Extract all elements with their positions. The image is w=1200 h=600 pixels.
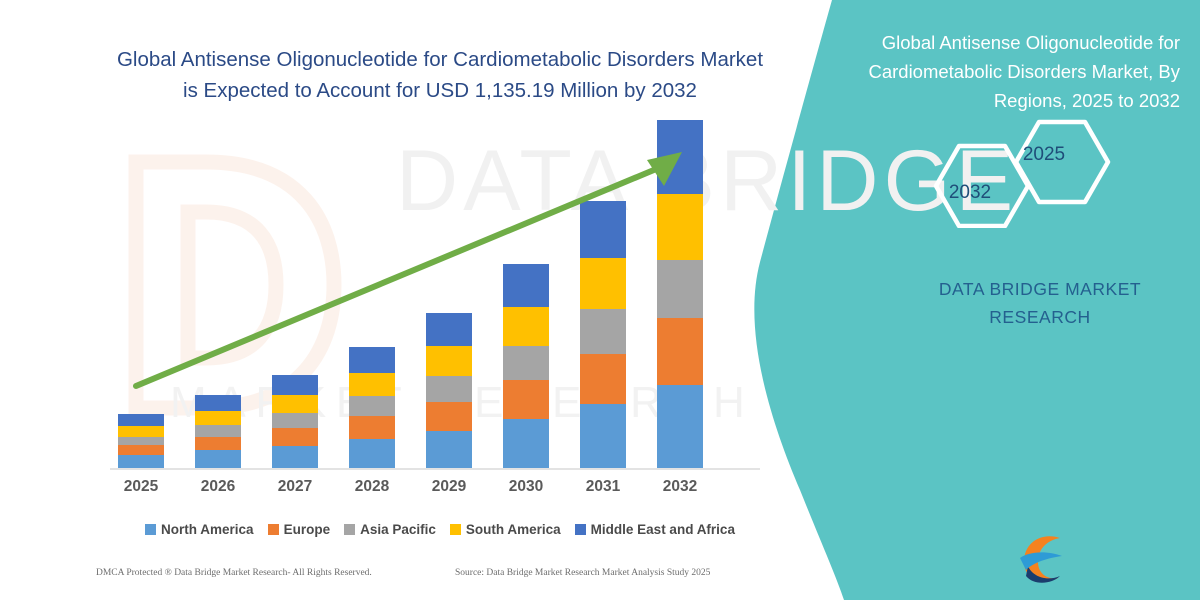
hexagon-group xyxy=(915,118,1115,228)
panel-brand-line-2: RESEARCH xyxy=(989,307,1090,327)
segment-middle-east-and-africa xyxy=(580,201,626,258)
stacked-bar-chart xyxy=(100,120,780,476)
segment-asia-pacific xyxy=(657,260,703,318)
segment-north-america xyxy=(349,439,395,468)
chart-legend: North AmericaEuropeAsia PacificSouth Ame… xyxy=(100,518,780,540)
segment-middle-east-and-africa xyxy=(272,375,318,395)
segment-europe xyxy=(503,380,549,419)
segment-europe xyxy=(426,402,472,432)
bar-2027 xyxy=(272,375,318,468)
data-bridge-logo-mark xyxy=(1018,532,1078,584)
segment-europe xyxy=(272,428,318,446)
segment-asia-pacific xyxy=(272,413,318,429)
footer-source: Source: Data Bridge Market Research Mark… xyxy=(455,568,710,578)
x-axis-label-2031: 2031 xyxy=(563,478,643,496)
legend-item-north-america[interactable]: North America xyxy=(145,522,254,537)
segment-middle-east-and-africa xyxy=(195,395,241,411)
segment-asia-pacific xyxy=(580,309,626,353)
segment-south-america xyxy=(503,307,549,346)
legend-swatch-icon xyxy=(145,524,156,535)
bar-2026 xyxy=(195,395,241,468)
legend-item-middle-east-and-africa[interactable]: Middle East and Africa xyxy=(575,522,735,537)
segment-south-america xyxy=(657,194,703,260)
segment-north-america xyxy=(580,404,626,468)
segment-middle-east-and-africa xyxy=(118,414,164,426)
panel-title: Global Antisense Oligonucleotide for Car… xyxy=(830,28,1180,115)
segment-europe xyxy=(580,354,626,405)
x-axis-label-2026: 2026 xyxy=(178,478,258,496)
x-axis-label-2030: 2030 xyxy=(486,478,566,496)
legend-label: Europe xyxy=(284,522,331,537)
bar-2028 xyxy=(349,347,395,468)
segment-south-america xyxy=(195,411,241,425)
segment-asia-pacific xyxy=(349,396,395,416)
legend-swatch-icon xyxy=(575,524,586,535)
segment-middle-east-and-africa xyxy=(349,347,395,373)
bar-2031 xyxy=(580,201,626,468)
segment-north-america xyxy=(195,450,241,468)
bar-2029 xyxy=(426,313,472,468)
data-bridge-logo: DATA BRIDGE MARKET RESEARCH xyxy=(1018,532,1190,584)
segment-south-america xyxy=(272,395,318,413)
hexagon-label-start-year: 2032 xyxy=(935,182,1005,204)
segment-north-america xyxy=(426,431,472,468)
x-axis-label-2028: 2028 xyxy=(332,478,412,496)
segment-europe xyxy=(195,437,241,451)
page-title: Global Antisense Oligonucleotide for Car… xyxy=(110,44,770,106)
segment-middle-east-and-africa xyxy=(426,313,472,346)
legend-item-europe[interactable]: Europe xyxy=(268,522,331,537)
legend-label: Middle East and Africa xyxy=(591,522,735,537)
x-axis-label-2029: 2029 xyxy=(409,478,489,496)
legend-item-south-america[interactable]: South America xyxy=(450,522,561,537)
segment-north-america xyxy=(503,419,549,468)
infographic-canvas: DATA BRIDGE MARKET RESEARCH Global Antis… xyxy=(0,0,1200,600)
legend-swatch-icon xyxy=(344,524,355,535)
legend-swatch-icon xyxy=(268,524,279,535)
hexagon-label-end-year: 2025 xyxy=(1009,144,1079,166)
segment-middle-east-and-africa xyxy=(503,264,549,307)
segment-asia-pacific xyxy=(195,425,241,437)
segment-asia-pacific xyxy=(118,437,164,445)
legend-label: Asia Pacific xyxy=(360,522,436,537)
bar-group xyxy=(100,120,780,468)
segment-europe xyxy=(349,416,395,439)
segment-europe xyxy=(657,318,703,384)
bar-2032 xyxy=(657,120,703,468)
legend-label: North America xyxy=(161,522,254,537)
segment-asia-pacific xyxy=(503,346,549,380)
x-axis-label-2027: 2027 xyxy=(255,478,335,496)
footer-copyright: DMCA Protected ® Data Bridge Market Rese… xyxy=(96,568,372,578)
segment-middle-east-and-africa xyxy=(657,120,703,194)
legend-swatch-icon xyxy=(450,524,461,535)
panel-brand-line-1: DATA BRIDGE MARKET xyxy=(939,279,1141,299)
segment-south-america xyxy=(349,373,395,396)
bar-2030 xyxy=(503,264,549,468)
segment-south-america xyxy=(426,346,472,376)
segment-south-america xyxy=(118,426,164,436)
x-axis-labels: 20252026202720282029203020312032 xyxy=(100,478,780,502)
panel-brand: DATA BRIDGE MARKET RESEARCH xyxy=(900,275,1180,331)
bar-2025 xyxy=(118,414,164,468)
segment-south-america xyxy=(580,258,626,309)
segment-north-america xyxy=(657,385,703,468)
legend-item-asia-pacific[interactable]: Asia Pacific xyxy=(344,522,436,537)
x-axis-label-2025: 2025 xyxy=(101,478,181,496)
segment-europe xyxy=(118,445,164,455)
segment-asia-pacific xyxy=(426,376,472,402)
x-axis-label-2032: 2032 xyxy=(640,478,720,496)
legend-label: South America xyxy=(466,522,561,537)
segment-north-america xyxy=(272,446,318,468)
segment-north-america xyxy=(118,455,164,468)
